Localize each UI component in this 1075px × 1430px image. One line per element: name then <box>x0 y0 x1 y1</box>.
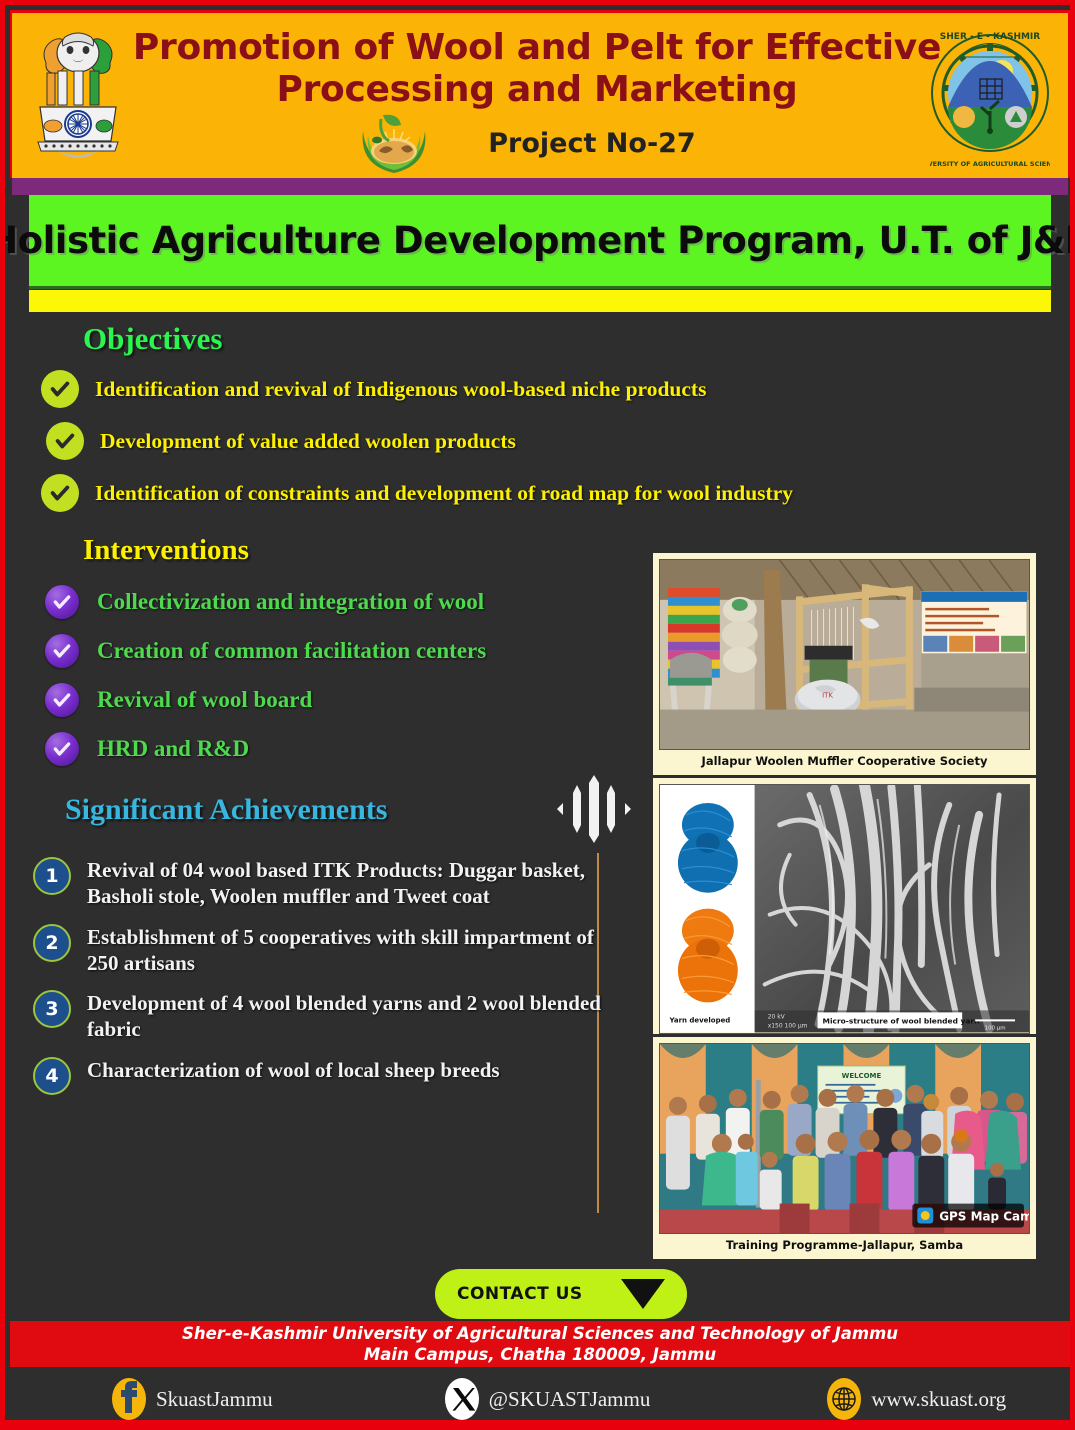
achievement-item: 2 Establishment of 5 cooperatives with s… <box>33 922 603 977</box>
chevron-down-icon <box>621 1279 665 1309</box>
achievement-text: Establishment of 5 cooperatives with ski… <box>87 922 603 977</box>
interventions-heading: Interventions <box>83 534 249 567</box>
achievement-item: 4 Characterization of wool of local shee… <box>33 1055 603 1095</box>
social-label-facebook: SkuastJammu <box>156 1387 273 1412</box>
group-training-photo: WELCOME <box>659 1043 1030 1234</box>
facebook-icon <box>110 1376 148 1422</box>
achievement-item: 1 Revival of 04 wool based ITK Products:… <box>33 855 603 910</box>
achievement-number-badge: 2 <box>33 924 71 962</box>
social-label-x: @SKUASTJammu <box>489 1387 651 1412</box>
footer-line2: Main Campus, Chatha 180009, Jammu <box>364 1344 716 1365</box>
yellow-accent-bar <box>29 290 1051 312</box>
bottom-border <box>5 1420 1075 1425</box>
objective-item: Development of value added woolen produc… <box>41 422 971 460</box>
check-circle-icon <box>41 474 79 512</box>
check-circle-icon <box>41 370 79 408</box>
gallery-card: WELCOME <box>653 1037 1036 1259</box>
check-circle-icon <box>45 585 79 619</box>
achievement-text: Revival of 04 wool based ITK Products: D… <box>87 855 603 910</box>
objective-text: Identification of constraints and develo… <box>95 481 793 506</box>
svg-text:Micro-structure of wool blende: Micro-structure of wool blended yarn <box>823 1017 980 1026</box>
intervention-item: HRD and R&D <box>45 732 625 766</box>
objective-text: Development of value added woolen produc… <box>100 429 516 454</box>
achievement-number-badge: 4 <box>33 1057 71 1095</box>
handloom-weaving-workshop-photo: ITK <box>659 559 1030 750</box>
achievement-number-badge: 1 <box>33 857 71 895</box>
svg-text:100 µm: 100 µm <box>985 1026 1006 1032</box>
gallery-caption: Training Programme-Jallapur, Samba <box>659 1234 1030 1257</box>
intervention-text: Creation of common facilitation centers <box>97 638 486 664</box>
poster-root: Promotion of Wool and Pelt for Effective… <box>0 0 1075 1430</box>
footer-address: Sher-e-Kashmir University of Agricultura… <box>10 1321 1070 1367</box>
objective-item: Identification of constraints and develo… <box>41 474 971 512</box>
check-circle-icon <box>46 422 84 460</box>
interventions-list: Collectivization and integration of wool… <box>45 585 625 781</box>
objective-item: Identification and revival of Indigenous… <box>41 370 971 408</box>
page-title-line1: Promotion of Wool and Pelt for Effective <box>132 27 942 69</box>
project-number: Project No-27 <box>312 128 872 159</box>
objectives-heading: Objectives <box>83 321 222 357</box>
yarn-and-micrograph-composite: Yarn developed <box>659 784 1030 1033</box>
contact-us-button[interactable]: CONTACT US <box>435 1269 687 1319</box>
decorative-divider-icon <box>553 773 635 845</box>
social-link-facebook[interactable]: SkuastJammu <box>110 1376 273 1422</box>
achievements-list: 1 Revival of 04 wool based ITK Products:… <box>33 855 603 1107</box>
intervention-item: Revival of wool board <box>45 683 625 717</box>
green-bar-underline <box>29 286 1051 289</box>
achievements-heading: Significant Achievements <box>65 793 388 827</box>
skuast-logo-icon: SHER - E - KASHMIR UNIVERSITY OF AGRICUL… <box>930 21 1050 173</box>
gallery: ITK Jallapur Woolen Muffler Cooperative … <box>653 553 1036 1262</box>
intervention-text: Revival of wool board <box>97 687 312 713</box>
check-circle-icon <box>45 683 79 717</box>
objectives-list: Identification and revival of Indigenous… <box>41 370 971 526</box>
intervention-text: Collectivization and integration of wool <box>97 589 484 615</box>
gallery-card: Yarn developed <box>653 778 1036 1033</box>
gallery-caption: Jallapur Woolen Muffler Cooperative Soci… <box>659 750 1030 773</box>
x-twitter-icon <box>443 1376 481 1422</box>
achievement-text: Characterization of wool of local sheep … <box>87 1055 500 1083</box>
check-circle-icon <box>45 732 79 766</box>
page-title: Promotion of Wool and Pelt for Effective… <box>132 27 942 112</box>
objective-text: Identification and revival of Indigenous… <box>95 377 706 402</box>
intervention-item: Collectivization and integration of wool <box>45 585 625 619</box>
svg-text:Yarn developed: Yarn developed <box>668 1017 730 1025</box>
purple-divider <box>12 178 1068 195</box>
svg-text:UNIVERSITY OF AGRICULTURAL SCI: UNIVERSITY OF AGRICULTURAL SCIENCES <box>930 160 1050 168</box>
svg-text:ITK: ITK <box>822 692 833 700</box>
social-link-website[interactable]: www.skuast.org <box>825 1376 1006 1422</box>
social-links: SkuastJammu @SKUASTJammu ww <box>10 1373 1070 1425</box>
intervention-text: HRD and R&D <box>97 736 249 762</box>
svg-text:WELCOME: WELCOME <box>842 1072 882 1080</box>
svg-text:x150 100 µm: x150 100 µm <box>768 1023 808 1030</box>
poster-header: Promotion of Wool and Pelt for Effective… <box>10 10 1070 178</box>
social-link-x[interactable]: @SKUASTJammu <box>443 1376 651 1422</box>
globe-icon <box>825 1376 863 1422</box>
intervention-item: Creation of common facilitation centers <box>45 634 625 668</box>
svg-text:SHER - E - KASHMIR: SHER - E - KASHMIR <box>940 32 1041 42</box>
achievement-number-badge: 3 <box>33 990 71 1028</box>
page-title-line2: Processing and Marketing <box>132 69 942 111</box>
national-emblem-icon <box>32 23 124 175</box>
footer-line1: Sher-e-Kashmir University of Agricultura… <box>182 1323 898 1344</box>
achievement-item: 3 Development of 4 wool blended yarns an… <box>33 988 603 1043</box>
social-label-website: www.skuast.org <box>871 1387 1006 1412</box>
svg-text:20 kV: 20 kV <box>768 1014 786 1021</box>
check-circle-icon <box>45 634 79 668</box>
program-title-bar: Holistic Agriculture Development Program… <box>29 195 1051 286</box>
gallery-card: ITK Jallapur Woolen Muffler Cooperative … <box>653 553 1036 775</box>
contact-us-label: CONTACT US <box>457 1284 621 1304</box>
svg-text:GPS Map Camera: GPS Map Camera <box>939 1209 1030 1223</box>
program-title-text: Holistic Agriculture Development Program… <box>0 219 1075 262</box>
achievement-text: Development of 4 wool blended yarns and … <box>87 988 603 1043</box>
